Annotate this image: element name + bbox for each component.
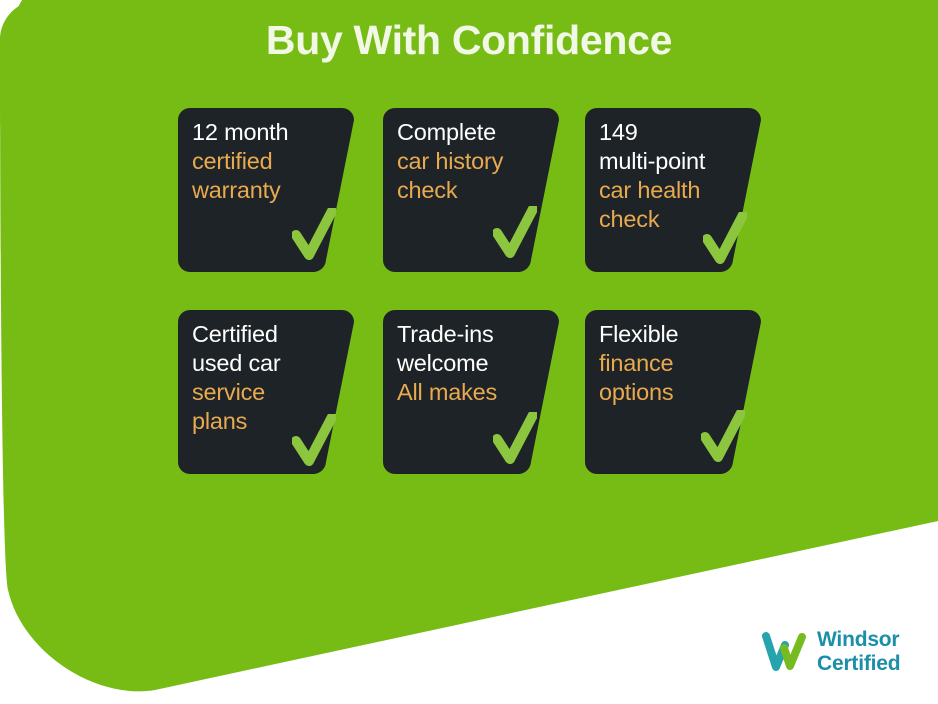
check-icon <box>292 414 336 466</box>
card-line: certified <box>192 147 346 176</box>
logo-wordmark: Windsor Certified <box>817 628 900 676</box>
card-line: used car <box>192 349 346 378</box>
card-line: multi-point <box>599 147 753 176</box>
card-line: service <box>192 378 346 407</box>
windsor-w-icon <box>762 629 808 675</box>
card-line: 149 <box>599 118 753 147</box>
card-line: Flexible <box>599 320 753 349</box>
benefit-card[interactable]: Flexible finance options <box>585 310 761 474</box>
card-line: car history <box>397 147 551 176</box>
card-line: Complete <box>397 118 551 147</box>
benefit-card[interactable]: Complete car history check <box>383 108 559 272</box>
card-line: check <box>397 176 551 205</box>
benefit-card[interactable]: 149 multi-point car health check <box>585 108 761 272</box>
card-text: Flexible finance options <box>599 320 753 407</box>
benefit-card[interactable]: 12 month certified warranty <box>178 108 354 272</box>
card-line: options <box>599 378 753 407</box>
card-line: Certified <box>192 320 346 349</box>
check-icon <box>701 410 745 462</box>
card-line: welcome <box>397 349 551 378</box>
card-text: Trade-ins welcome All makes <box>397 320 551 407</box>
card-line: car health <box>599 176 753 205</box>
logo-line-2: Certified <box>817 652 900 676</box>
card-line: 12 month <box>192 118 346 147</box>
card-line: Trade-ins <box>397 320 551 349</box>
card-line: All makes <box>397 378 551 407</box>
check-icon <box>493 206 537 258</box>
card-text: 12 month certified warranty <box>192 118 346 205</box>
card-line: finance <box>599 349 753 378</box>
logo-line-1: Windsor <box>817 628 899 651</box>
check-icon <box>703 212 747 264</box>
card-line: warranty <box>192 176 346 205</box>
benefit-card-grid: 12 month certified warranty Complete car… <box>178 108 766 476</box>
poster-canvas: Buy With Confidence 12 month certified w… <box>0 0 938 704</box>
benefit-card[interactable]: Certified used car service plans <box>178 310 354 474</box>
benefit-card[interactable]: Trade-ins welcome All makes <box>383 310 559 474</box>
windsor-certified-logo[interactable]: Windsor Certified <box>762 624 932 680</box>
check-icon <box>292 208 336 260</box>
check-icon <box>493 412 537 464</box>
page-title: Buy With Confidence <box>0 16 938 64</box>
card-text: Complete car history check <box>397 118 551 205</box>
